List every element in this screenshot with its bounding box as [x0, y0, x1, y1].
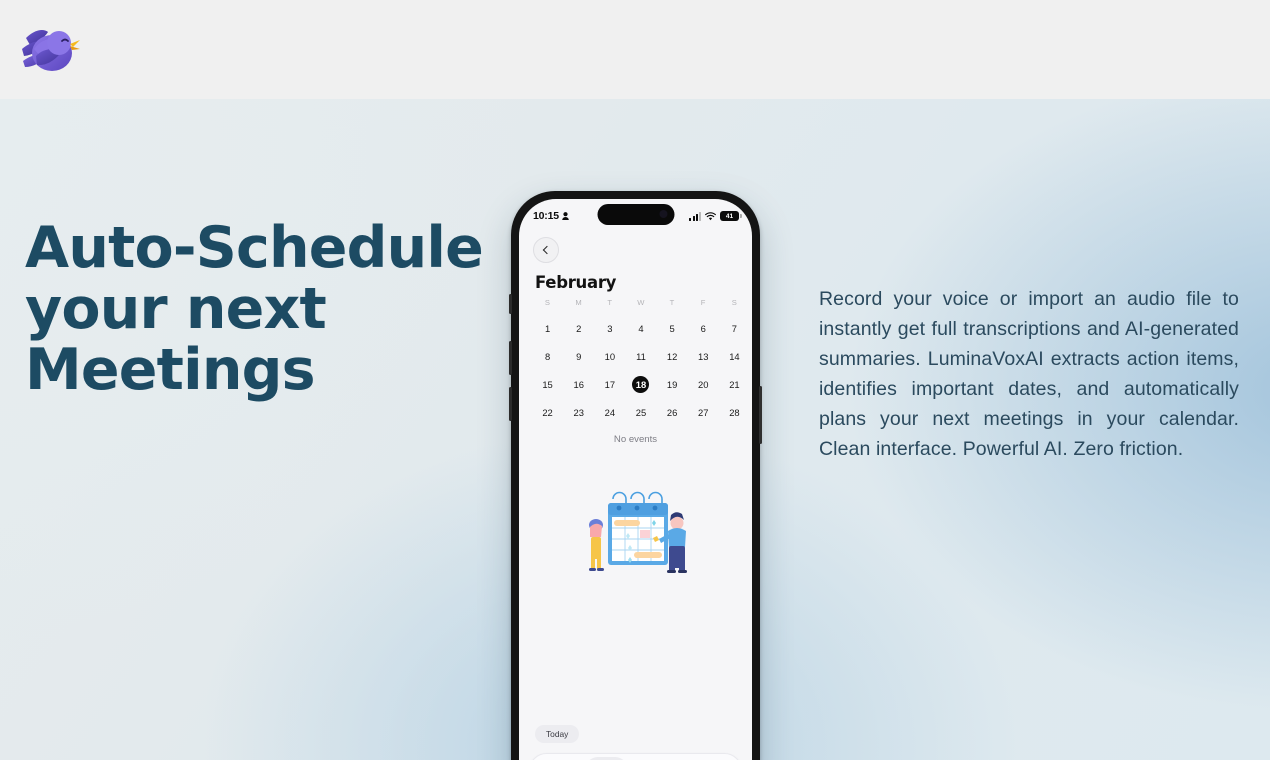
calendar-day[interactable]: 26: [657, 398, 688, 426]
calendar-week-row: 8 9 10 11 12 13 14: [532, 342, 750, 370]
today-button[interactable]: Today: [535, 725, 579, 743]
volume-down-button: [509, 387, 512, 421]
calendar-day[interactable]: 12: [657, 342, 688, 370]
calendar-day[interactable]: 3: [594, 314, 625, 342]
front-camera-icon: [659, 210, 667, 218]
weekday-label: T: [657, 298, 688, 314]
calendar-day[interactable]: 27: [688, 398, 719, 426]
weekday-label: F: [688, 298, 719, 314]
chevron-left-icon: [543, 246, 551, 254]
wifi-icon: [705, 212, 716, 221]
calendar-day[interactable]: 22: [532, 398, 563, 426]
calendar-day[interactable]: 28: [719, 398, 750, 426]
calendar-people-illustration: [580, 481, 692, 582]
calendar-day[interactable]: 6: [688, 314, 719, 342]
calendar-day[interactable]: 2: [563, 314, 594, 342]
phone-screen: 10:15: [519, 199, 752, 760]
status-time-group: 10:15: [533, 210, 569, 222]
person-icon: [562, 212, 569, 220]
calendar-grid[interactable]: S M T W T F S 1 2 3 4 5 6 7: [532, 298, 750, 426]
status-bar: 10:15: [519, 199, 752, 229]
status-time: 10:15: [533, 210, 559, 222]
calendar-day[interactable]: 19: [657, 370, 688, 398]
back-button[interactable]: [533, 237, 559, 263]
calendar-day[interactable]: 20: [688, 370, 719, 398]
calendar-day[interactable]: 13: [688, 342, 719, 370]
weekday-label: S: [719, 298, 750, 314]
weekday-label: M: [563, 298, 594, 314]
site-header: [0, 0, 1270, 99]
battery-level: 41: [726, 213, 733, 220]
volume-button: [509, 294, 512, 314]
calendar-day[interactable]: 8: [532, 342, 563, 370]
bottom-tab-bar: Home Calendar: [529, 753, 742, 760]
dynamic-island: [597, 204, 674, 225]
weekday-header-row: S M T W T F S: [532, 298, 750, 314]
cellular-signal-icon: [689, 212, 701, 221]
calendar-week-row: 15 16 17 18 19 20 21: [532, 370, 750, 398]
empty-state-text: No events: [519, 434, 752, 445]
calendar-day[interactable]: 7: [719, 314, 750, 342]
calendar-day[interactable]: 14: [719, 342, 750, 370]
status-indicators: 41: [689, 211, 739, 221]
calendar-day[interactable]: 21: [719, 370, 750, 398]
calendar-day[interactable]: 9: [563, 342, 594, 370]
hero-description: Record your voice or import an audio fil…: [819, 284, 1239, 464]
weekday-label: S: [532, 298, 563, 314]
bird-logo[interactable]: [14, 16, 82, 84]
calendar-day[interactable]: 17: [594, 370, 625, 398]
phone-mockup: 10:15: [511, 191, 760, 760]
calendar-day[interactable]: 11: [625, 342, 656, 370]
calendar-day[interactable]: 25: [625, 398, 656, 426]
page-title: Auto-Schedule your next Meetings: [25, 218, 495, 401]
calendar-day-selected[interactable]: 18: [625, 370, 656, 398]
calendar-day[interactable]: 24: [594, 398, 625, 426]
calendar-week-row: 22 23 24 25 26 27 28: [532, 398, 750, 426]
weekday-label: W: [625, 298, 656, 314]
calendar-day[interactable]: 16: [563, 370, 594, 398]
month-title: February: [535, 273, 616, 292]
weekday-label: T: [594, 298, 625, 314]
calendar-day[interactable]: 10: [594, 342, 625, 370]
calendar-week-row: 1 2 3 4 5 6 7: [532, 314, 750, 342]
calendar-day[interactable]: 5: [657, 314, 688, 342]
calendar-day[interactable]: 23: [563, 398, 594, 426]
calendar-day[interactable]: 4: [625, 314, 656, 342]
hero-section: Auto-Schedule your next Meetings Record …: [0, 99, 1270, 760]
calendar-day[interactable]: 15: [532, 370, 563, 398]
calendar-day[interactable]: 1: [532, 314, 563, 342]
battery-icon: 41: [720, 211, 739, 221]
